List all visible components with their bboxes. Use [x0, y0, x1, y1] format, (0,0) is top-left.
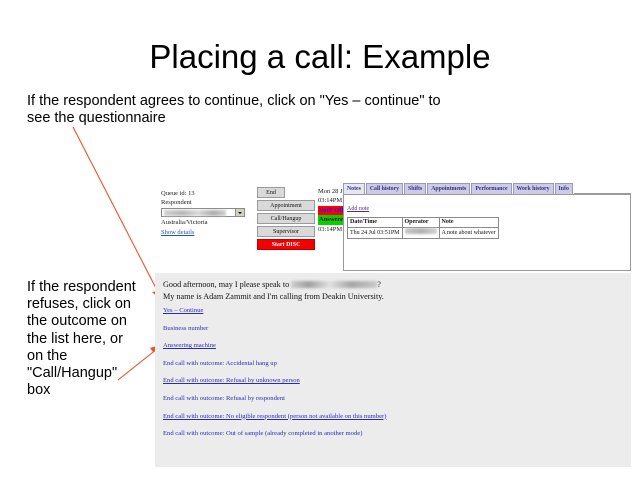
cell-datetime: Thu 24 Jul 03:51PM	[348, 228, 403, 239]
call-action-buttons: End Appointment Call/Hangup Supervisor S…	[257, 187, 314, 252]
cell-note: A note about whatever	[439, 228, 498, 239]
table-row[interactable]: Thu 24 Jul 03:51PM A note about whatever	[348, 228, 499, 239]
tab-shifts[interactable]: Shifts	[404, 183, 426, 194]
script-line2: My name is Adam Zammit and I'm calling f…	[163, 292, 384, 301]
outcome-link-yes-continue[interactable]: Yes – Continue	[163, 307, 386, 315]
embedded-app-screenshot: Queue id: 13 Respondent Australia/Victor…	[155, 183, 631, 467]
supervisor-button[interactable]: Supervisor	[257, 226, 315, 237]
outcome-link-accidental-hang-up[interactable]: End call with outcome: Accidental hang u…	[163, 360, 386, 368]
end-button[interactable]: End	[257, 187, 285, 198]
outcome-link-no-eligible-respondent[interactable]: End call with outcome: No eligible respo…	[163, 413, 386, 421]
annotation-top: If the respondent agrees to continue, cl…	[27, 93, 467, 127]
respondent-label: Respondent	[161, 198, 253, 207]
call-info-block: Queue id: 13 Respondent Australia/Victor…	[161, 189, 253, 237]
column-datetime: Date/Time	[348, 218, 403, 228]
tab-appointments[interactable]: Appointments	[427, 183, 470, 194]
call-script-text: Good afternoon, may I please speak to ? …	[163, 279, 384, 302]
column-operator: Operator	[402, 218, 439, 228]
respondent-select[interactable]	[161, 208, 245, 217]
cell-operator	[402, 228, 439, 239]
voip-status-badge: VoIP Off	[318, 206, 345, 215]
outcome-link-out-of-sample[interactable]: End call with outcome: Out of sample (al…	[163, 430, 386, 438]
tab-call-history[interactable]: Call history	[366, 183, 403, 194]
appointment-button[interactable]: Appointment	[257, 200, 315, 211]
show-details-link[interactable]: Show details	[161, 228, 253, 237]
timezone-label: Australia/Victoria	[161, 218, 253, 227]
add-note-link[interactable]: Add note	[347, 206, 369, 212]
page-title: Placing a call: Example	[0, 38, 640, 76]
outcome-link-refusal-unknown-person[interactable]: End call with outcome: Refusal by unknow…	[163, 377, 386, 385]
start-disc-button[interactable]: Start DISC	[257, 239, 315, 250]
notes-tabbar: Notes Call history Shifts Appointments P…	[343, 183, 631, 195]
outcome-link-list: Yes – Continue Business number Answering…	[163, 307, 386, 448]
annotation-left: If the respondent refuses, click on the …	[27, 279, 137, 399]
column-note: Note	[439, 218, 498, 228]
notes-panel: Notes Call history Shifts Appointments P…	[343, 183, 631, 271]
table-header-row: Date/Time Operator Note	[348, 218, 499, 228]
redacted-respondent-name	[291, 281, 377, 288]
chevron-down-icon[interactable]	[235, 209, 244, 216]
tab-work-history[interactable]: Work history	[513, 183, 554, 194]
queue-id-label: Queue id: 13	[161, 189, 253, 198]
outcome-link-refusal-respondent[interactable]: End call with outcome: Refusal by respon…	[163, 395, 386, 403]
arrow-line-top	[73, 127, 160, 296]
redacted-respondent-value	[164, 210, 226, 216]
tab-performance[interactable]: Performance	[471, 183, 511, 194]
tabbar-filler	[574, 183, 631, 194]
notes-table: Date/Time Operator Note Thu 24 Jul 03:51…	[347, 217, 499, 239]
script-area: Good afternoon, may I please speak to ? …	[155, 273, 631, 467]
tab-info[interactable]: Info	[555, 183, 573, 194]
call-hangup-button[interactable]: Call/Hangup	[257, 213, 315, 224]
redacted-operator-value	[405, 228, 437, 234]
call-top-panel: Queue id: 13 Respondent Australia/Victor…	[157, 183, 631, 271]
outcome-link-business-number[interactable]: Business number	[163, 325, 386, 333]
script-line1-before: Good afternoon, may I please speak to	[163, 280, 291, 289]
tab-notes[interactable]: Notes	[343, 183, 365, 194]
notes-body: Add note Date/Time Operator Note Thu 24 …	[343, 195, 631, 271]
script-line1-after: ?	[377, 280, 381, 289]
outcome-link-answering-machine[interactable]: Answering machine	[163, 342, 386, 350]
